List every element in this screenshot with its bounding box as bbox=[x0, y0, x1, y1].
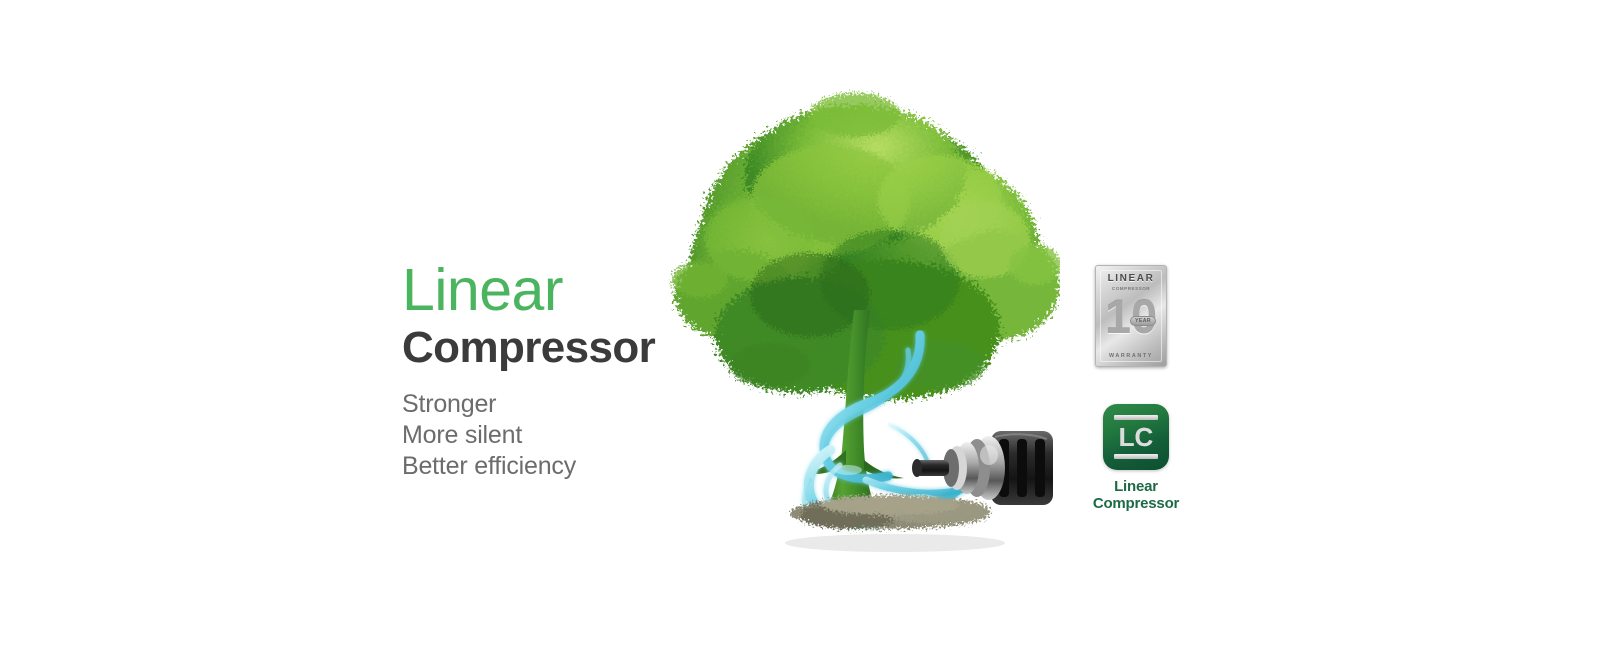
lc-caption-line-1: Linear bbox=[1076, 478, 1196, 495]
lc-badge: LC Linear Compressor bbox=[1076, 404, 1196, 512]
lc-badge-caption: Linear Compressor bbox=[1076, 478, 1196, 512]
lc-logo-bar-top bbox=[1114, 415, 1158, 420]
lc-caption-line-2: Compressor bbox=[1076, 495, 1196, 512]
warranty-badge-period: YEAR bbox=[1130, 316, 1156, 326]
warranty-badge-footer: WARRANTY bbox=[1096, 353, 1166, 359]
lc-logo-letters: LC bbox=[1103, 424, 1169, 450]
compressor-motor-image bbox=[905, 415, 1065, 525]
lc-logo-bar-bottom bbox=[1114, 454, 1158, 459]
tree-compressor-artwork bbox=[640, 80, 1060, 550]
linear-compressor-banner: Linear Compressor Stronger More silent B… bbox=[0, 0, 1600, 649]
warranty-badge-title: LINEAR bbox=[1096, 273, 1166, 284]
warranty-badge: LINEAR COMPRESSOR 10 YEAR WARRANTY bbox=[1095, 265, 1167, 367]
badge-group: LINEAR COMPRESSOR 10 YEAR WARRANTY LC Li… bbox=[1076, 258, 1196, 512]
lc-logo-icon: LC bbox=[1103, 404, 1169, 470]
